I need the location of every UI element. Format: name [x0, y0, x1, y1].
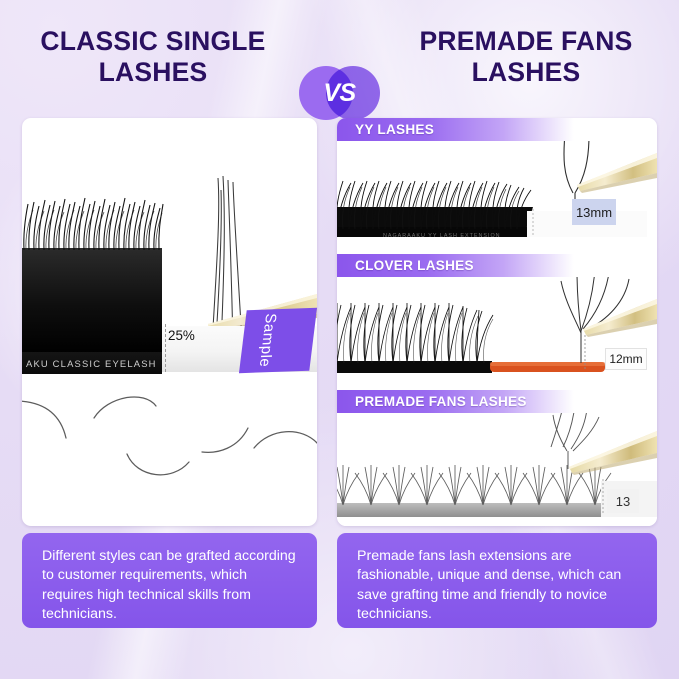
section-header-clover: CLOVER LASHES: [337, 254, 657, 277]
sample-tag: Sample: [239, 308, 317, 373]
page-title-left: CLASSIC SINGLE LASHES: [8, 26, 298, 88]
premade-fan-row: [337, 465, 611, 505]
caption-premade-fans: Premade fans lash extensions are fashion…: [337, 533, 657, 628]
clover-lash-strip: [337, 303, 605, 373]
ruler-tick-start: [165, 324, 167, 372]
clover-lashes-illustration: [337, 277, 657, 390]
page-title-right: PREMADE FANS LASHES: [381, 26, 671, 88]
section-header-fans: PREMADE FANS LASHES: [337, 390, 657, 413]
percent-label: 25%: [168, 328, 195, 343]
sample-tag-label: Sample: [256, 313, 280, 367]
section-yy-lashes: YY LASHES: [337, 118, 657, 254]
tweezers-yy: [577, 153, 657, 193]
measure-label-fans: 13: [607, 489, 639, 513]
section-header-yy: YY LASHES: [337, 118, 657, 141]
section-body-clover: [337, 277, 657, 390]
premade-fans-lashes-panel: YY LASHES: [337, 118, 657, 526]
vs-label: VS: [299, 66, 380, 120]
section-body-yy: NAGARAAKU YY LASH EXTENSION: [337, 141, 657, 254]
product-brand-strip: AKU CLASSIC EYELASH: [22, 352, 162, 374]
measure-label-clover: 12mm: [605, 348, 647, 370]
tweezers-fans: [569, 431, 657, 475]
caption-classic-lashes: Different styles can be grafted accordin…: [22, 533, 317, 628]
measure-label-yy: 13mm: [572, 199, 616, 225]
yy-lashes-illustration: NAGARAAKU YY LASH EXTENSION: [337, 141, 657, 254]
yy-lash-strip: NAGARAAKU YY LASH EXTENSION: [337, 181, 533, 239]
vs-badge: VS: [299, 66, 380, 120]
tweezers-clover: [583, 299, 657, 337]
header: CLASSIC SINGLE LASHES VS PREMADE FANS LA…: [0, 26, 679, 108]
svg-text:NAGARAAKU YY LASH EXTENSION: NAGARAAKU YY LASH EXTENSION: [383, 233, 501, 239]
